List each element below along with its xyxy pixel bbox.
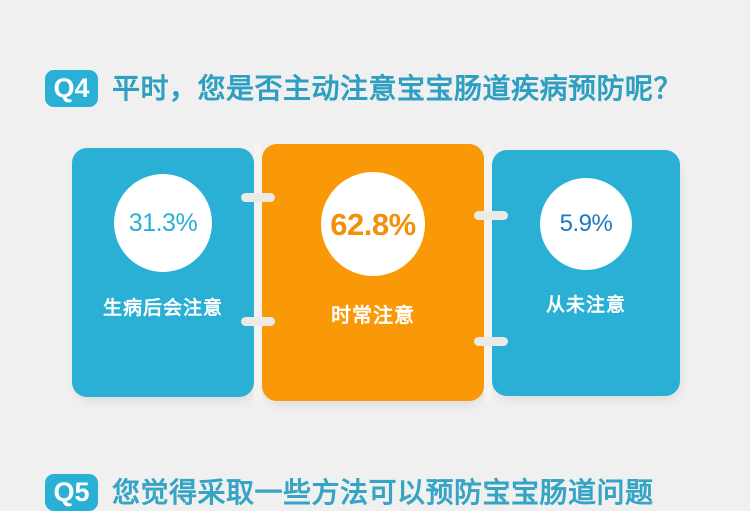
binder-tab-icon (241, 317, 275, 326)
question-title-q4: 平时，您是否主动注意宝宝肠道疾病预防呢？ (112, 75, 682, 103)
question-header-q5: Q5 您觉得采取一些方法可以预防宝宝肠道问题 (45, 474, 654, 511)
binder-tab-icon (474, 211, 508, 220)
answer-card-sick-then-notice[interactable]: 31.3% 生病后会注意 (72, 148, 254, 397)
answer-label: 从未注意 (546, 296, 626, 315)
answer-label: 时常注意 (331, 306, 415, 326)
percent-circle: 31.3% (114, 174, 212, 272)
binder-tab-icon (474, 337, 508, 346)
percent-circle: 5.9% (540, 178, 632, 270)
question-title-q5: 您觉得采取一些方法可以预防宝宝肠道问题 (112, 479, 654, 507)
card-divider-right (484, 144, 492, 401)
binder-tab-icon (241, 193, 275, 202)
answer-label: 生病后会注意 (103, 299, 223, 318)
question-header-q4: Q4 平时，您是否主动注意宝宝肠道疾病预防呢？ (45, 70, 682, 107)
percent-value: 5.9% (560, 212, 613, 236)
percent-value: 31.3% (129, 211, 197, 236)
card-divider-left (254, 144, 262, 401)
question-badge-q5: Q5 (45, 474, 98, 511)
percent-circle: 62.8% (321, 172, 425, 276)
question-badge-q4: Q4 (45, 70, 98, 107)
percent-value: 62.8% (330, 209, 415, 240)
answer-card-often-notice[interactable]: 62.8% 时常注意 (262, 144, 484, 401)
answer-card-never-notice[interactable]: 5.9% 从未注意 (492, 150, 680, 396)
